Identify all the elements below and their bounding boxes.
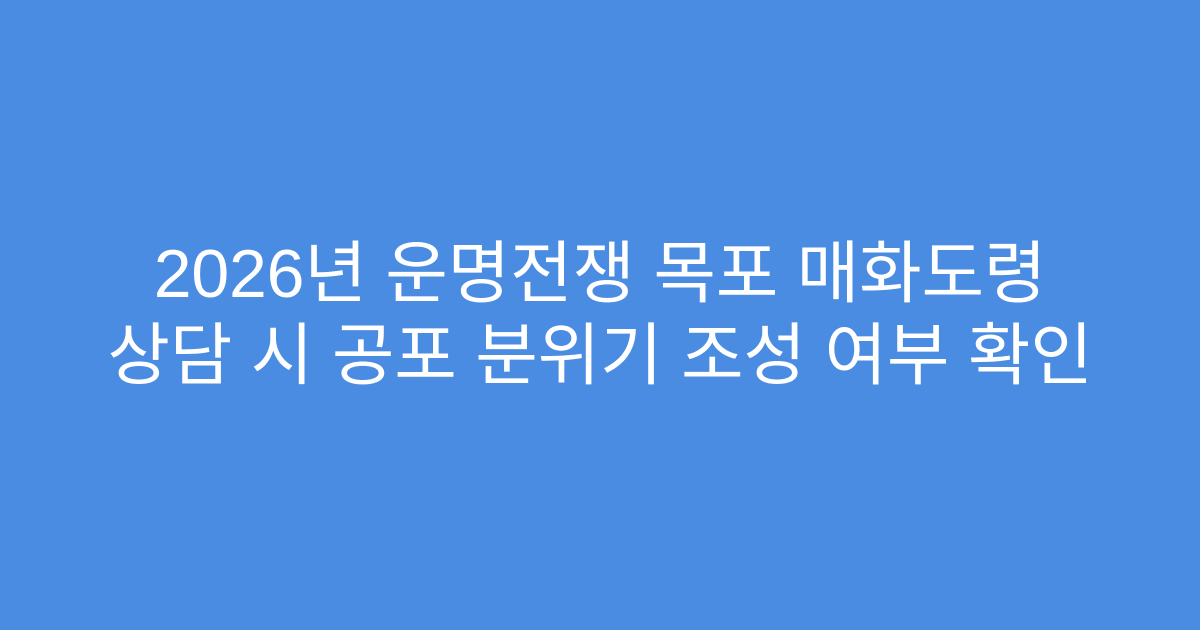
title-line-1: 2026년 운명전쟁 목포 매화도령 bbox=[48, 233, 1152, 315]
share-card: 2026년 운명전쟁 목포 매화도령 상담 시 공포 분위기 조성 여부 확인 bbox=[0, 0, 1200, 630]
page-title: 2026년 운명전쟁 목포 매화도령 상담 시 공포 분위기 조성 여부 확인 bbox=[30, 233, 1170, 397]
title-line-2: 상담 시 공포 분위기 조성 여부 확인 bbox=[48, 315, 1152, 397]
